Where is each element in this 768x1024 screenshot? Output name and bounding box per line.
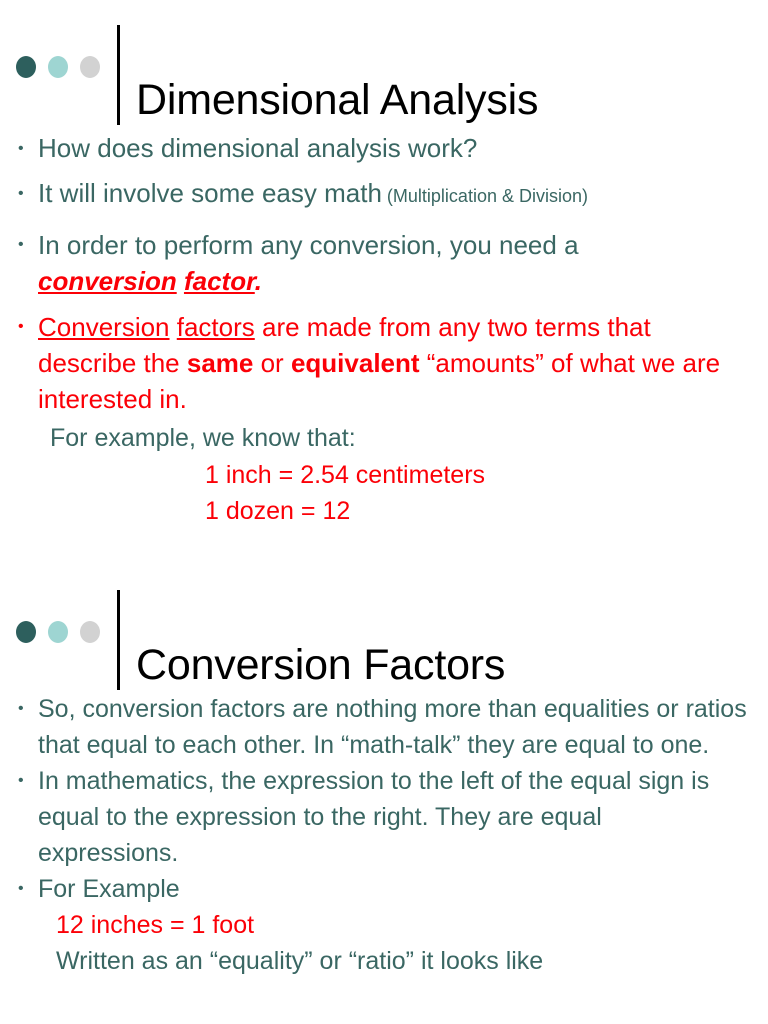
slide1-bullet-2-note-text: (Multiplication & Division)	[387, 186, 588, 206]
slide1-decorative-dots	[16, 56, 100, 78]
slide-conversion-factors: Conversion Factors So, conversion factor…	[0, 585, 768, 979]
dot-gray-icon	[80, 621, 100, 643]
slide2-bullet-2-text: In mathematics, the expression to the le…	[38, 767, 709, 867]
slide1-bold-same: same	[187, 348, 254, 378]
dot-light-teal-icon	[48, 621, 68, 643]
dot-dark-icon	[16, 621, 36, 643]
slide2-bullet-3: For Example	[0, 871, 748, 907]
slide1-bullet-3: In order to perform any conversion, you …	[0, 227, 748, 299]
slide2-decorative-dots	[16, 621, 100, 643]
slide1-keyword-factor: factor	[184, 266, 255, 296]
slide1-equality-dozen: 1 dozen = 12	[0, 493, 748, 529]
slide1-underline-factors: factors	[177, 312, 255, 342]
slide1-equality-inch: 1 inch = 2.54 centimeters	[0, 457, 748, 493]
slide1-keyword-conversion: conversion	[38, 266, 177, 296]
dot-gray-icon	[80, 56, 100, 78]
slide2-bullet-1-text: So, conversion factors are nothing more …	[38, 695, 747, 759]
slide1-bullet-list: How does dimensional analysis work? It w…	[0, 126, 748, 417]
slide2-example-equality: 12 inches = 1 foot	[0, 907, 748, 943]
dot-dark-icon	[16, 56, 36, 78]
slide2-title-row: Conversion Factors	[0, 587, 768, 691]
slide1-title-row: Dimensional Analysis	[0, 22, 768, 126]
slide2-title: Conversion Factors	[136, 638, 505, 692]
slide2-bullet-list: So, conversion factors are nothing more …	[0, 691, 748, 907]
slide1-underline-conversion: Conversion	[38, 312, 170, 342]
slide1-bold-equivalent: equivalent	[291, 348, 420, 378]
slide1-body: How does dimensional analysis work? It w…	[0, 126, 768, 529]
slide1-bullet-2-text: It will involve some easy math	[38, 178, 382, 208]
title-vertical-rule	[117, 25, 120, 125]
slide1-bullet4-part2: or	[253, 348, 291, 378]
slide2-bullet-2: In mathematics, the expression to the le…	[0, 763, 748, 871]
slide1-keyword-period: .	[255, 266, 262, 296]
slide2-bullet-1: So, conversion factors are nothing more …	[0, 691, 748, 763]
dot-light-teal-icon	[48, 56, 68, 78]
slide-dimensional-analysis: Dimensional Analysis How does dimensiona…	[0, 0, 768, 529]
slide2-body: So, conversion factors are nothing more …	[0, 691, 768, 979]
slide1-bullet-1: How does dimensional analysis work?	[0, 126, 748, 171]
slide-separator	[0, 529, 768, 585]
slide2-bullet-3-text: For Example	[38, 875, 180, 903]
slide1-bullet-2: It will involve some easy math (Multipli…	[0, 171, 748, 219]
slide1-bullet-4: Conversion factors are made from any two…	[0, 309, 748, 417]
slide2-example-note: Written as an “equality” or “ratio” it l…	[0, 943, 748, 979]
slide1-title: Dimensional Analysis	[136, 73, 538, 127]
slide1-example-intro: For example, we know that:	[0, 419, 748, 457]
slide1-bullet4-space	[170, 312, 177, 342]
slide-deck: Dimensional Analysis How does dimensiona…	[0, 0, 768, 1024]
slide1-bullet-3-lead: In order to perform any conversion, you …	[38, 230, 579, 260]
slide1-kw-space	[177, 266, 184, 296]
slide1-bullet-1-text: How does dimensional analysis work?	[38, 133, 477, 163]
title-vertical-rule	[117, 590, 120, 690]
